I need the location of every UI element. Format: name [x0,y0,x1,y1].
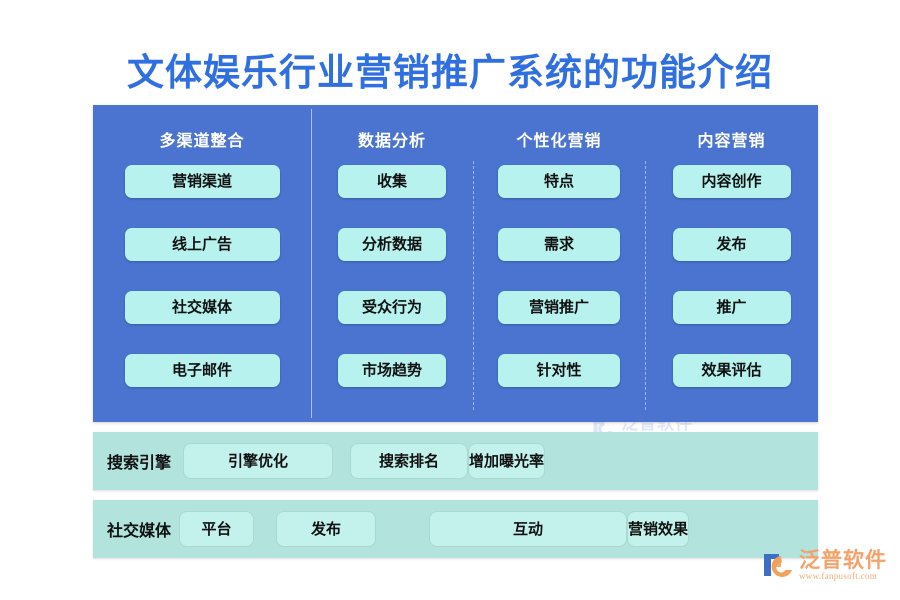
main-panel: 多渠道整合 营销渠道 线上广告 社交媒体 电子邮件 数据分析 收集 分析数据 受… [93,105,818,422]
column-item[interactable]: 需求 [498,228,620,261]
column-title: 内容营销 [697,127,765,151]
column-divider [311,109,312,418]
band-item[interactable]: 互动 [429,511,627,547]
band-item[interactable]: 增加曝光率 [468,443,545,479]
band-label: 搜索引擎 [107,449,171,473]
column-item[interactable]: 发布 [673,228,791,261]
logo-url: www.fanpusoft.com [799,571,887,582]
column-item[interactable]: 收集 [338,165,446,198]
column-item[interactable]: 分析数据 [338,228,446,261]
band-item[interactable]: 营销效果 [627,511,689,547]
page-title: 文体娱乐行业营销推广系统的功能介绍 [0,42,900,96]
column-item[interactable]: 营销渠道 [125,165,280,198]
column-item[interactable]: 针对性 [498,354,620,387]
column-item[interactable]: 受众行为 [338,291,446,324]
column-personalized-marketing: 个性化营销 特点 需求 营销推广 针对性 [473,105,645,422]
logo-text: 泛普软件 www.fanpusoft.com [799,549,887,582]
band-label: 社交媒体 [107,517,171,541]
band-item[interactable]: 平台 [179,511,254,547]
column-item[interactable]: 效果评估 [673,354,791,387]
column-multi-channel: 多渠道整合 营销渠道 线上广告 社交媒体 电子邮件 [93,105,311,422]
column-title: 多渠道整合 [159,127,244,151]
column-divider [645,161,646,410]
column-item[interactable]: 市场趋势 [338,354,446,387]
band-item[interactable]: 引擎优化 [183,443,333,479]
slide-canvas: 文体娱乐行业营销推广系统的功能介绍 多渠道整合 营销渠道 线上广告 社交媒体 电… [0,0,900,600]
column-item[interactable]: 电子邮件 [125,354,280,387]
column-item[interactable]: 营销推广 [498,291,620,324]
brand-logo: 泛普软件 www.fanpusoft.com [762,548,887,582]
column-item[interactable]: 推广 [673,291,791,324]
column-title: 数据分析 [358,127,426,151]
column-item[interactable]: 线上广告 [125,228,280,261]
column-divider [473,161,474,410]
column-item[interactable]: 社交媒体 [125,291,280,324]
column-data-analysis: 数据分析 收集 分析数据 受众行为 市场趋势 [311,105,473,422]
band-search-engine: 搜索引擎 引擎优化 搜索排名 增加曝光率 [93,432,818,490]
fanpu-logo-icon [762,548,796,582]
column-title: 个性化营销 [516,127,601,151]
logo-cn: 泛普软件 [799,549,887,571]
band-item[interactable]: 发布 [276,511,376,547]
band-item[interactable]: 搜索排名 [350,443,468,479]
band-social-media: 社交媒体 平台 发布 互动 营销效果 [93,500,818,558]
column-item[interactable]: 特点 [498,165,620,198]
column-content-marketing: 内容营销 内容创作 发布 推广 效果评估 [645,105,818,422]
column-item[interactable]: 内容创作 [673,165,791,198]
